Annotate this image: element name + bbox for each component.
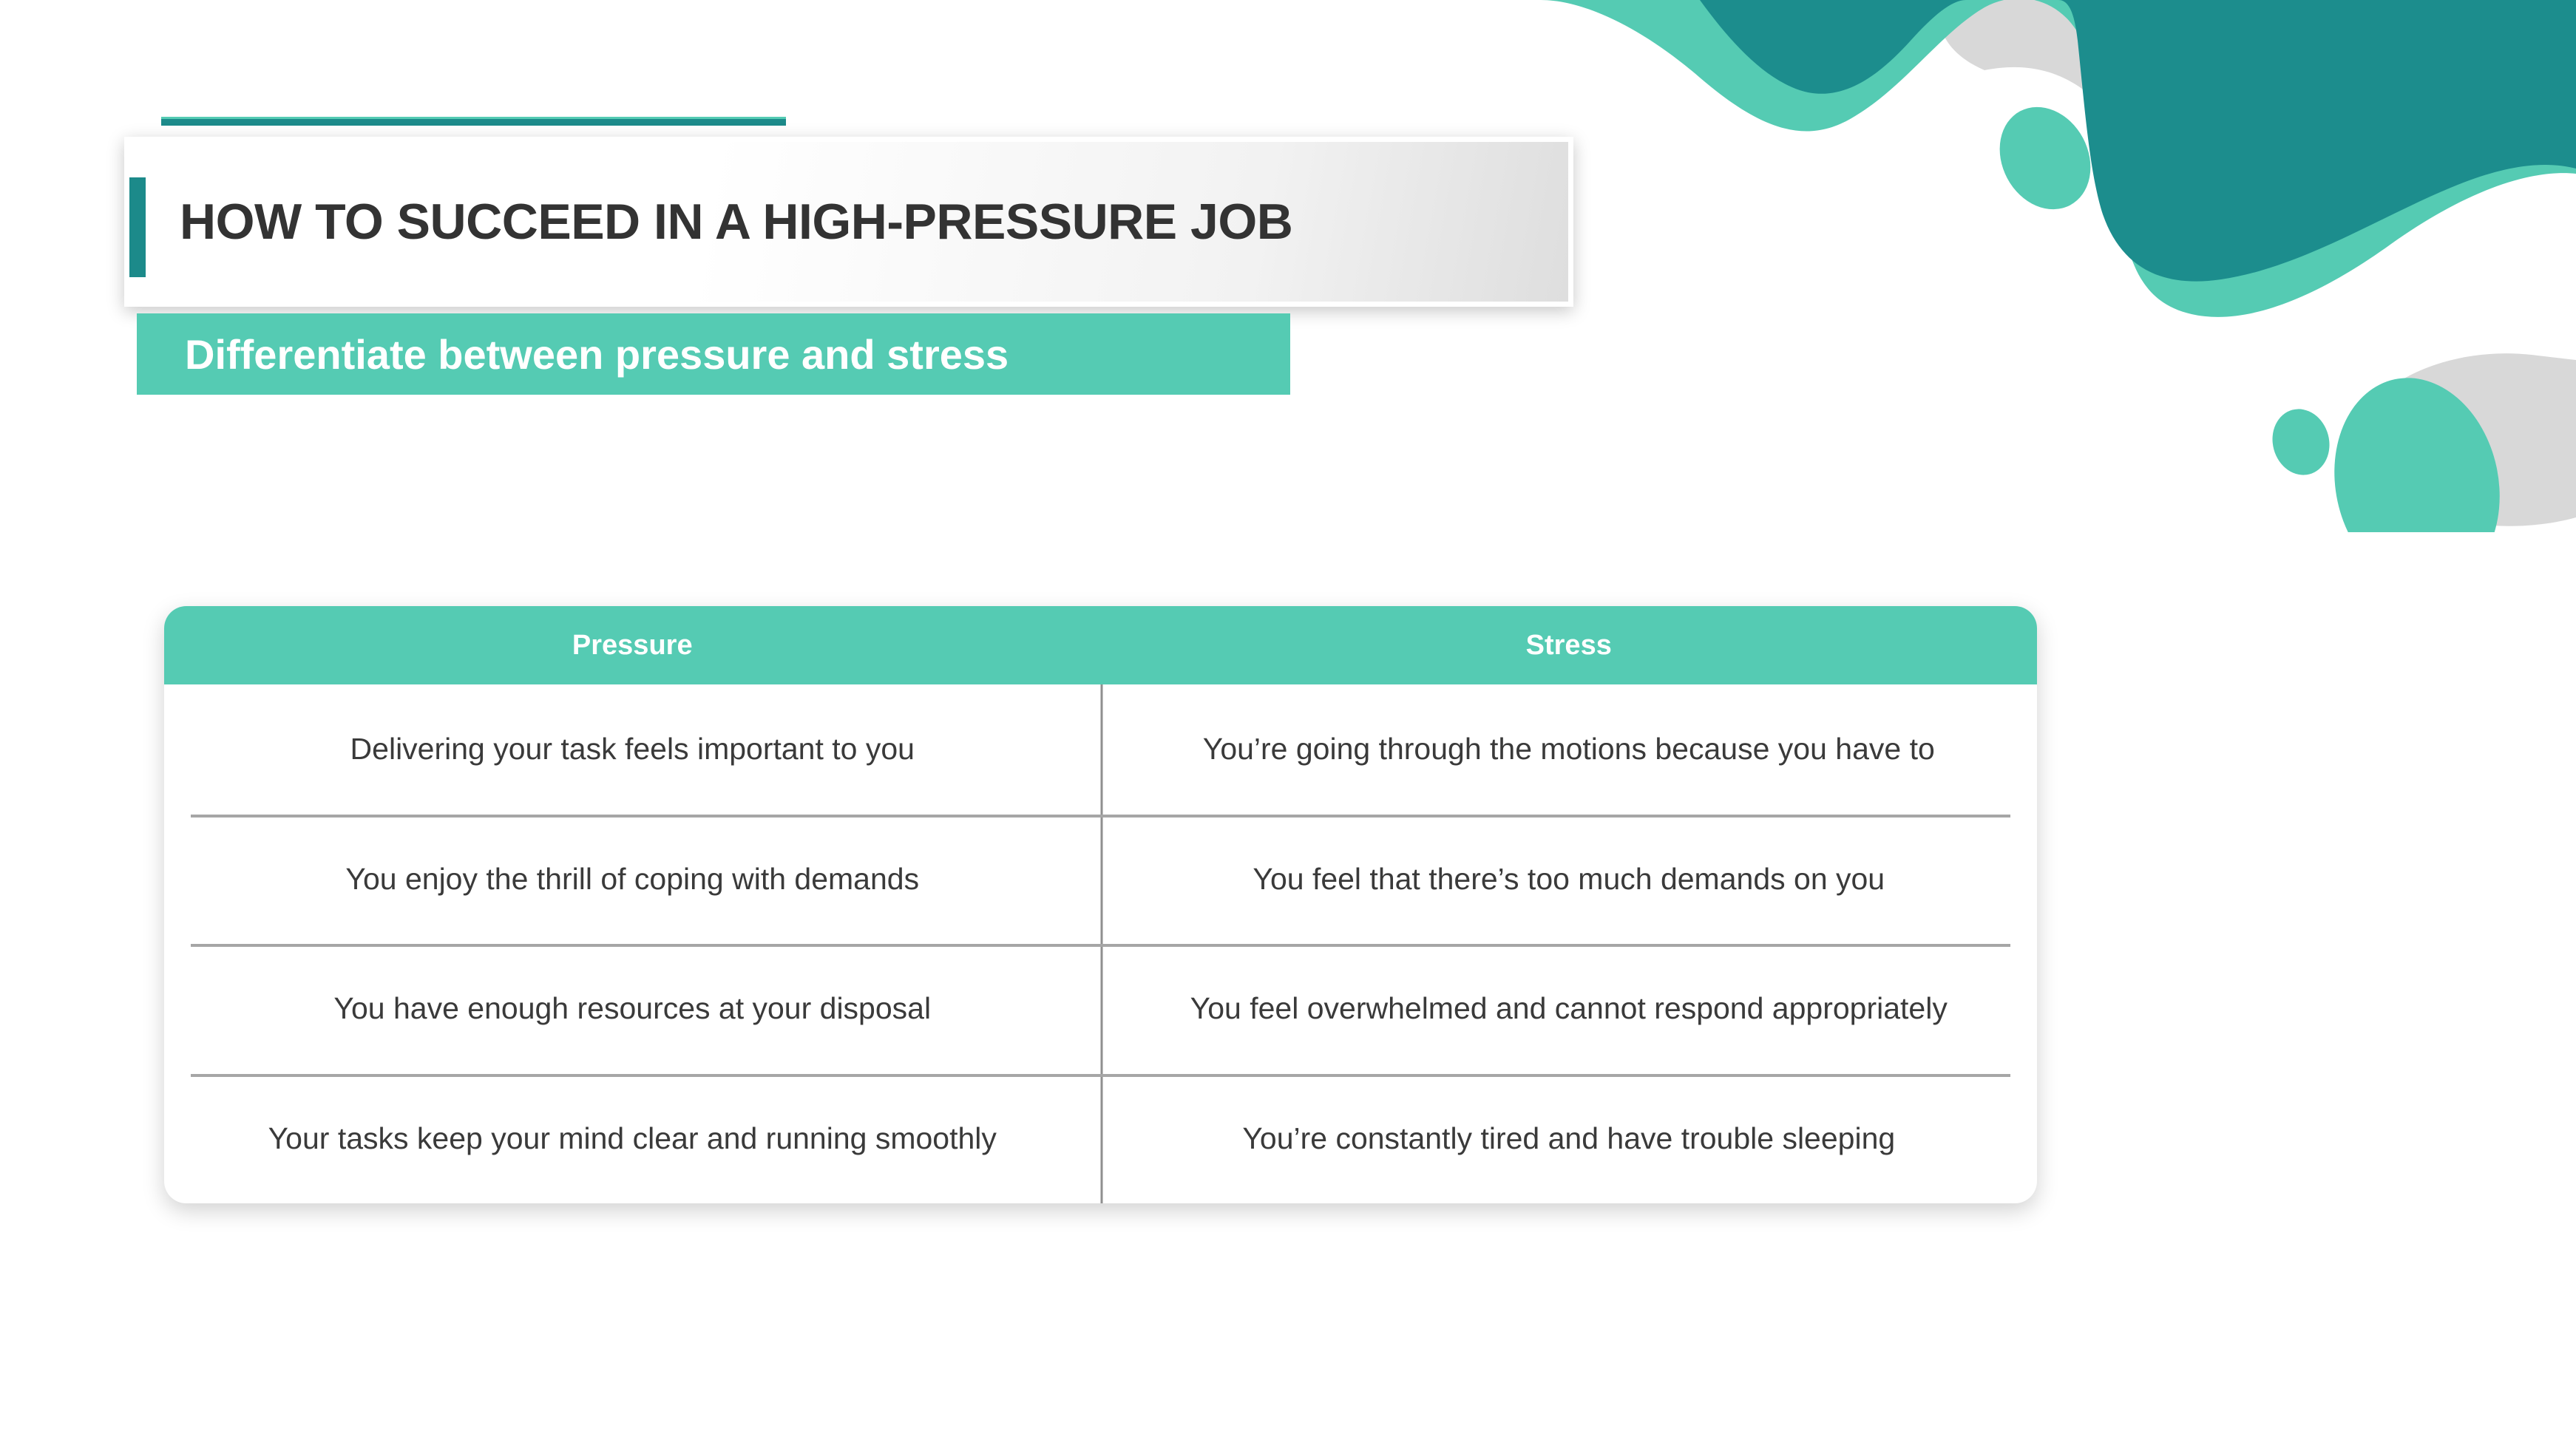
table-row: Your tasks keep your mind clear and runn… [164, 1074, 2037, 1204]
table-header-row: Pressure Stress [164, 606, 2037, 684]
blob-gray-shape-lower [2353, 353, 2576, 526]
title-top-rule [161, 117, 786, 126]
blob-dot-large-lower [2315, 362, 2518, 532]
slide-canvas: HOW TO SUCCEED IN A HIGH-PRESSURE JOB Di… [0, 0, 2576, 1448]
table-body: Delivering your task feels important to … [164, 684, 2037, 1203]
column-header-pressure: Pressure [164, 606, 1101, 684]
cell-stress: You’re going through the motions because… [1101, 684, 2038, 815]
blob-dot-small-upper [1982, 91, 2108, 225]
page-title: HOW TO SUCCEED IN A HIGH-PRESSURE JOB [180, 193, 1292, 251]
cell-pressure: You have enough resources at your dispos… [164, 944, 1101, 1074]
blob-teal-shape [1700, 0, 2576, 282]
column-header-stress: Stress [1101, 606, 2038, 684]
cell-stress: You feel overwhelmed and cannot respond … [1101, 944, 2038, 1074]
cell-stress: You’re constantly tired and have trouble… [1101, 1074, 2038, 1204]
blob-mint-shape [1541, 0, 2576, 317]
title-accent-bar [129, 177, 146, 277]
title-card: HOW TO SUCCEED IN A HIGH-PRESSURE JOB [124, 137, 1573, 307]
table-row: You enjoy the thrill of coping with dema… [164, 815, 2037, 945]
table-row: Delivering your task feels important to … [164, 684, 2037, 815]
cell-pressure: Your tasks keep your mind clear and runn… [164, 1074, 1101, 1204]
table-row: You have enough resources at your dispos… [164, 944, 2037, 1074]
cell-pressure: You enjoy the thrill of coping with dema… [164, 815, 1101, 945]
page-subtitle: Differentiate between pressure and stres… [185, 330, 1009, 378]
cell-pressure: Delivering your task feels important to … [164, 684, 1101, 815]
comparison-table: Pressure Stress Delivering your task fee… [164, 606, 2037, 1203]
subtitle-band: Differentiate between pressure and stres… [137, 313, 1290, 395]
decorative-blob-artwork [1541, 0, 2576, 532]
blob-gray-shape [1939, 0, 2576, 258]
blob-dot-tiny-lower [2265, 403, 2337, 482]
cell-stress: You feel that there’s too much demands o… [1101, 815, 2038, 945]
